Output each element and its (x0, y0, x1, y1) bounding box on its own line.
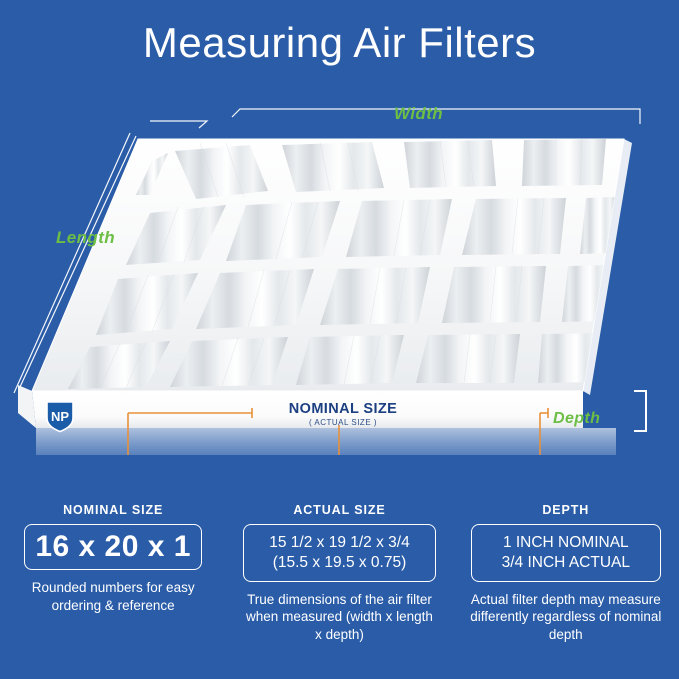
card-value-line: 1 INCH NOMINAL (503, 533, 629, 553)
card-depth: DEPTH 1 INCH NOMINAL 3/4 INCH ACTUAL Act… (453, 503, 679, 679)
card-value-line: (15.5 x 19.5 x 0.75) (273, 553, 407, 573)
width-label: Width (394, 104, 443, 124)
card-title: DEPTH (542, 503, 589, 517)
page-title: Measuring Air Filters (0, 22, 679, 64)
np-shield-logo: NP (45, 400, 75, 433)
card-value-box: 16 x 20 x 1 (24, 524, 202, 570)
frame-caption-primary: NOMINAL SIZE (258, 402, 428, 417)
card-description: True dimensions of the air filter when m… (242, 591, 437, 644)
card-description: Actual filter depth may measure differen… (468, 591, 663, 644)
infographic-root: Measuring Air Filters (0, 0, 679, 679)
card-nominal-size: NOMINAL SIZE 16 x 20 x 1 Rounded numbers… (0, 503, 226, 679)
card-value-box: 15 1/2 x 19 1/2 x 3/4 (15.5 x 19.5 x 0.7… (243, 524, 436, 582)
depth-bracket (634, 391, 646, 431)
info-cards: NOMINAL SIZE 16 x 20 x 1 Rounded numbers… (0, 503, 679, 679)
depth-label: Depth (553, 410, 600, 428)
np-logo-text: NP (51, 409, 69, 424)
card-title: ACTUAL SIZE (293, 503, 385, 517)
card-value-box: 1 INCH NOMINAL 3/4 INCH ACTUAL (471, 524, 661, 582)
frame-caption-secondary: ( ACTUAL SIZE ) (258, 418, 428, 427)
card-description: Rounded numbers for easy ordering & refe… (16, 579, 211, 615)
frame-caption: NOMINAL SIZE ( ACTUAL SIZE ) (258, 402, 428, 427)
card-actual-size: ACTUAL SIZE 15 1/2 x 19 1/2 x 3/4 (15.5 … (226, 503, 452, 679)
card-title: NOMINAL SIZE (63, 503, 163, 517)
card-value-line: 3/4 INCH ACTUAL (502, 553, 630, 573)
length-label: Length (56, 228, 115, 248)
card-value-line: 15 1/2 x 19 1/2 x 3/4 (269, 533, 409, 553)
card-value-line: 16 x 20 x 1 (35, 531, 191, 563)
